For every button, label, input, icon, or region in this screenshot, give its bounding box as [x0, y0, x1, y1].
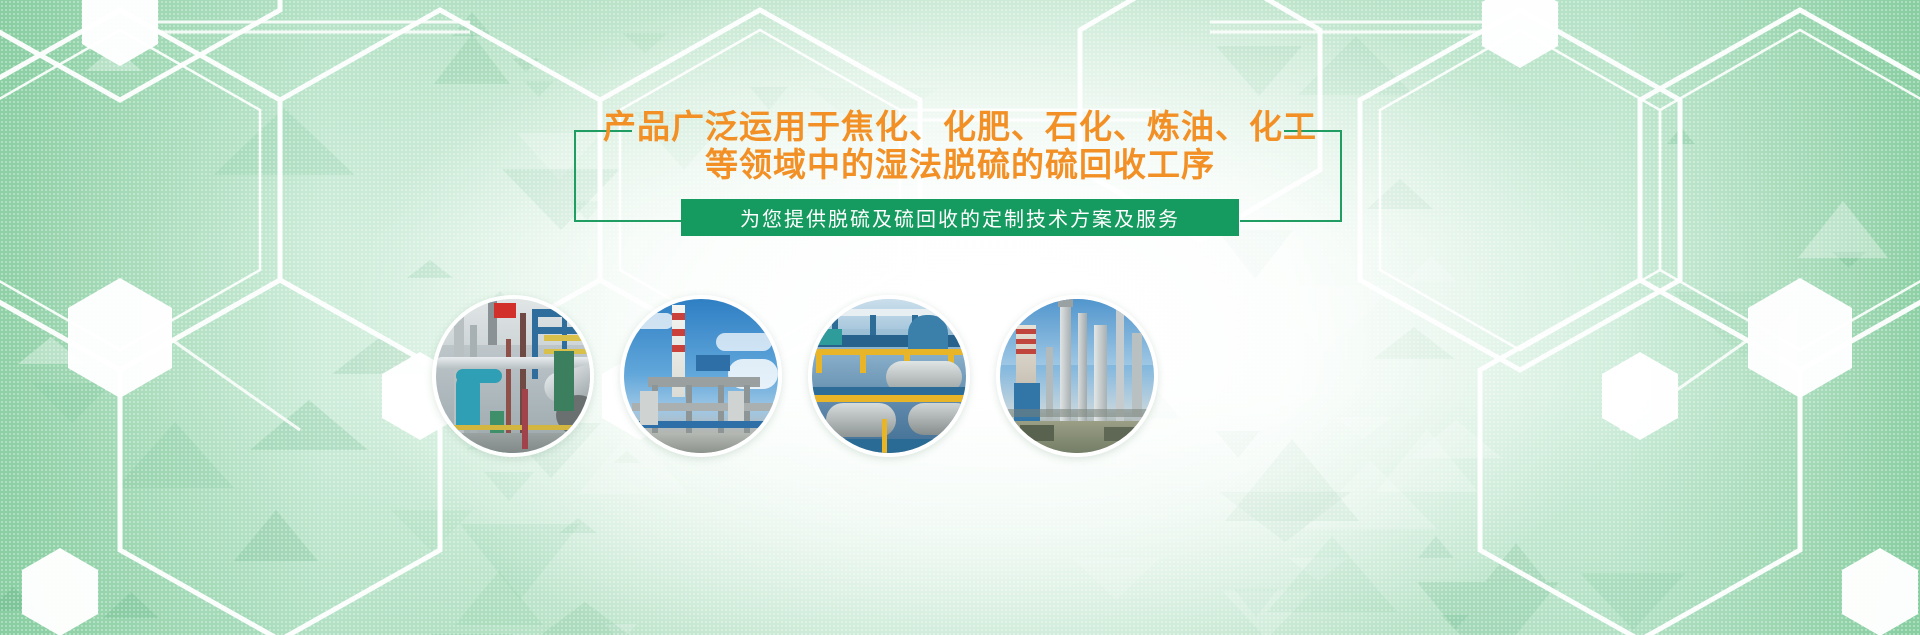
- headline-line-1: 产品广泛运用于焦化、化肥、石化、炼油、化工: [603, 108, 1317, 145]
- headline-line-2: 等领域中的湿法脱硫的硫回收工序: [0, 146, 1920, 184]
- photo-chimney-stack: [620, 295, 782, 457]
- headline: 产品广泛运用于焦化、化肥、石化、炼油、化工 等领域中的湿法脱硫的硫回收工序: [0, 108, 1920, 184]
- subtitle-bar: 为您提供脱硫及硫回收的定制技术方案及服务: [681, 199, 1239, 236]
- promo-banner: 产品广泛运用于焦化、化肥、石化、炼油、化工 等领域中的湿法脱硫的硫回收工序 为您…: [0, 0, 1920, 635]
- subtitle-text: 为您提供脱硫及硫回收的定制技术方案及服务: [740, 203, 1180, 232]
- photo-pressure-vessels: [808, 295, 970, 457]
- photo-sulfur-recovery-plant: [432, 295, 594, 457]
- photo-refinery-columns: [996, 295, 1158, 457]
